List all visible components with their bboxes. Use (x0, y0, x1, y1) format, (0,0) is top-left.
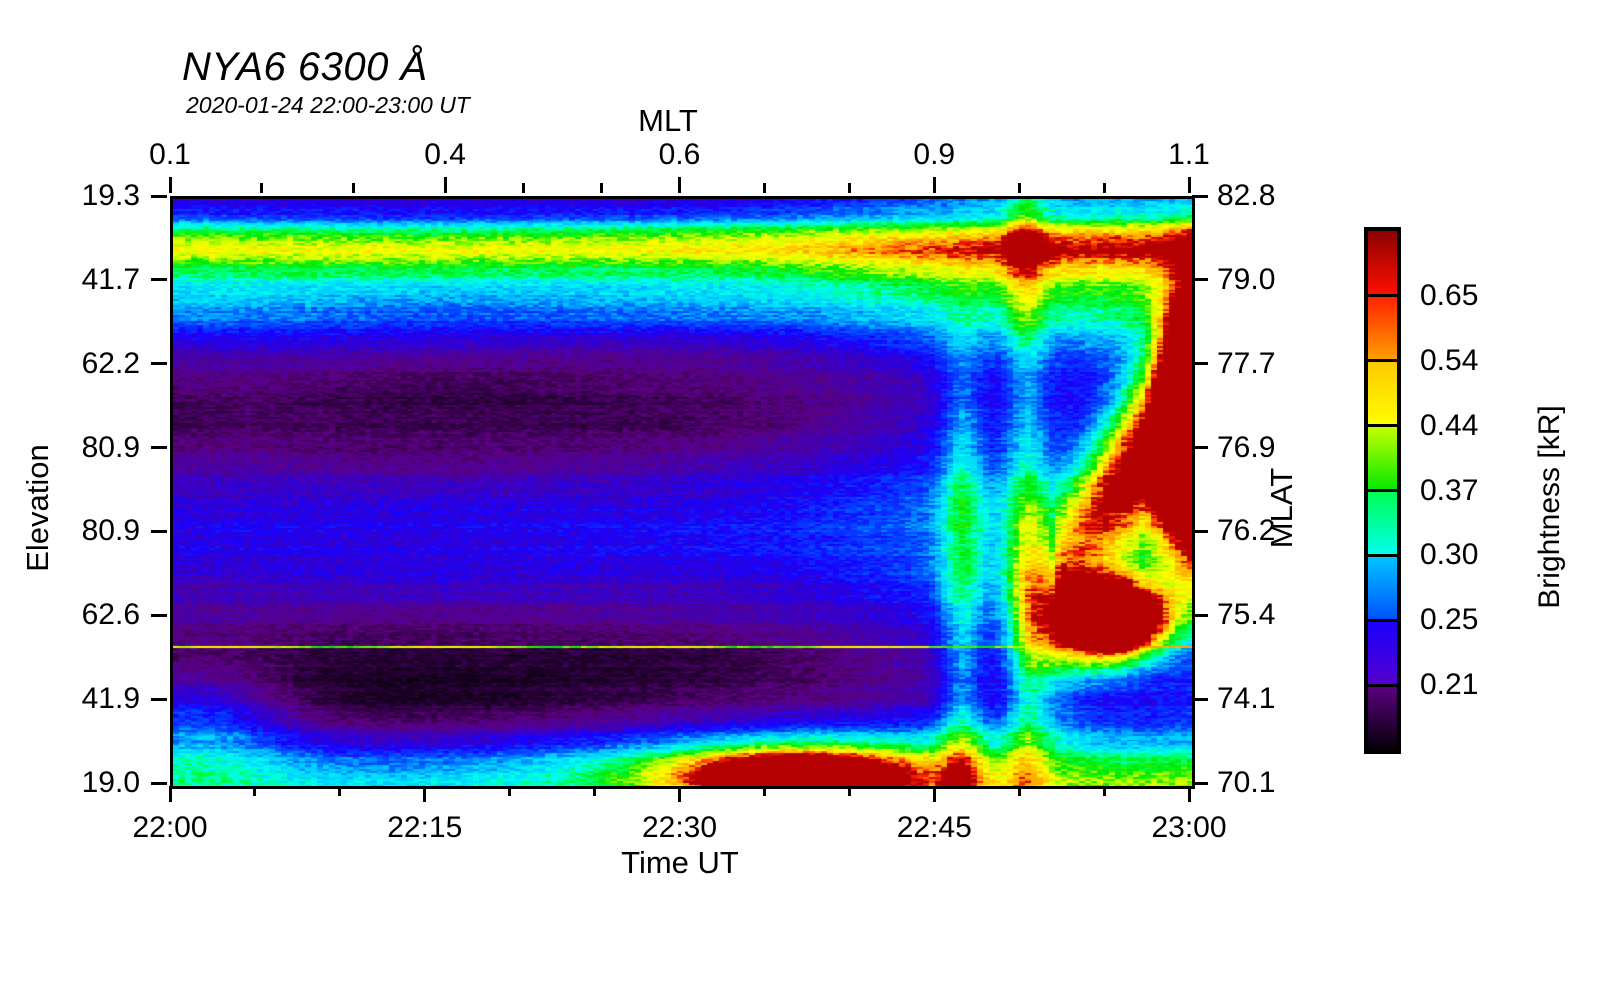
mlt-axis-title: MLT (638, 103, 698, 139)
y-tick-label: 62.6 (0, 598, 140, 632)
x-tick-major (933, 786, 936, 802)
colorbar-tick-label: 0.21 (1420, 668, 1478, 702)
subtitle: 2020-01-24 22:00-23:00 UT (186, 92, 470, 119)
mlt-tick-label: 0.4 (424, 138, 466, 172)
mlt-tick-major (444, 177, 447, 193)
mlt-tick-major (933, 177, 936, 193)
colorbar-segment (1368, 685, 1397, 750)
colorbar-separator (1368, 684, 1397, 687)
y-tick-major (151, 278, 167, 281)
y-tick-major (151, 362, 167, 365)
y-tick-label: 41.9 (0, 682, 140, 716)
colorbar-segment (1368, 426, 1397, 491)
page-title: NYA6 6300 Å (182, 45, 428, 90)
mlt-tick-label: 1.1 (1168, 138, 1210, 172)
x-tick-minor (1018, 786, 1021, 796)
mlt-tick-minor (352, 183, 355, 193)
x-tick-label: 22:30 (642, 811, 717, 845)
colorbar-segment (1368, 491, 1397, 556)
colorbar-segment (1368, 361, 1397, 426)
x-tick-major (169, 786, 172, 802)
colorbar (1364, 227, 1401, 754)
colorbar-tick-label: 0.25 (1420, 603, 1478, 637)
mlt-tick-major (169, 177, 172, 193)
x-tick-major (678, 786, 681, 802)
mlt-tick-minor (260, 183, 263, 193)
colorbar-segment (1368, 555, 1397, 620)
x-tick-label: 22:45 (897, 811, 972, 845)
y-tick-label: 80.9 (0, 431, 140, 465)
mlat-tick-label: 77.7 (1217, 347, 1275, 381)
mlt-tick-label: 0.1 (149, 138, 191, 172)
x-tick-minor (338, 786, 341, 796)
mlat-tick-major (1192, 195, 1208, 198)
mlt-tick-minor (600, 183, 603, 193)
keogram-figure: NYA6 6300 Å 2020-01-24 22:00-23:00 UT ML… (0, 0, 1600, 1000)
mlat-tick-major (1192, 614, 1208, 617)
mlat-tick-label: 76.2 (1217, 514, 1275, 548)
colorbar-segment (1368, 296, 1397, 361)
x-tick-minor (848, 786, 851, 796)
y-tick-major (151, 195, 167, 198)
colorbar-tick-label: 0.37 (1420, 474, 1478, 508)
mlat-tick-label: 82.8 (1217, 179, 1275, 213)
colorbar-segment (1368, 620, 1397, 685)
mlat-tick-label: 76.9 (1217, 431, 1275, 465)
mlat-tick-major (1192, 698, 1208, 701)
y-tick-major (151, 698, 167, 701)
mlat-tick-label: 70.1 (1217, 766, 1275, 800)
x-tick-label: 22:00 (132, 811, 207, 845)
mlt-tick-label: 0.6 (659, 138, 701, 172)
y-tick-major (151, 614, 167, 617)
mlt-tick-major (1188, 177, 1191, 193)
mlt-tick-minor (1018, 183, 1021, 193)
colorbar-separator (1368, 424, 1397, 427)
mlt-tick-minor (1103, 183, 1106, 193)
keogram-image (173, 199, 1192, 786)
x-tick-major (1188, 786, 1191, 802)
y-tick-label: 19.3 (0, 179, 140, 213)
y-tick-major (151, 782, 167, 785)
y-tick-major (151, 530, 167, 533)
x-axis-title: Time UT (621, 845, 739, 881)
plot-area (170, 196, 1195, 789)
x-tick-major (423, 786, 426, 802)
mlt-tick-minor (848, 183, 851, 193)
x-tick-minor (593, 786, 596, 796)
colorbar-separator (1368, 554, 1397, 557)
colorbar-title: Brightness [kR] (1533, 347, 1567, 667)
colorbar-tick-label: 0.54 (1420, 344, 1478, 378)
mlt-tick-major (678, 177, 681, 193)
colorbar-separator (1368, 619, 1397, 622)
mlat-tick-major (1192, 782, 1208, 785)
x-tick-label: 23:00 (1151, 811, 1226, 845)
colorbar-tick-label: 0.44 (1420, 409, 1478, 443)
mlat-tick-major (1192, 530, 1208, 533)
x-tick-minor (1103, 786, 1106, 796)
mlat-tick-major (1192, 362, 1208, 365)
colorbar-tick-label: 0.30 (1420, 538, 1478, 572)
x-tick-minor (253, 786, 256, 796)
mlat-tick-label: 74.1 (1217, 682, 1275, 716)
colorbar-separator (1368, 294, 1397, 297)
colorbar-segment (1368, 231, 1397, 296)
mlat-tick-label: 75.4 (1217, 598, 1275, 632)
colorbar-tick-label: 0.65 (1420, 279, 1478, 313)
mlat-tick-label: 79.0 (1217, 263, 1275, 297)
y-tick-label: 41.7 (0, 263, 140, 297)
y-tick-major (151, 446, 167, 449)
mlat-tick-major (1192, 446, 1208, 449)
mlt-tick-minor (763, 183, 766, 193)
colorbar-separator (1368, 489, 1397, 492)
y-tick-label: 19.0 (0, 766, 140, 800)
mlt-tick-minor (522, 183, 525, 193)
y-tick-label: 80.9 (0, 514, 140, 548)
mlat-tick-major (1192, 278, 1208, 281)
y-tick-label: 62.2 (0, 347, 140, 381)
colorbar-separator (1368, 359, 1397, 362)
mlt-tick-label: 0.9 (913, 138, 955, 172)
x-tick-minor (763, 786, 766, 796)
x-tick-label: 22:15 (387, 811, 462, 845)
x-tick-minor (508, 786, 511, 796)
